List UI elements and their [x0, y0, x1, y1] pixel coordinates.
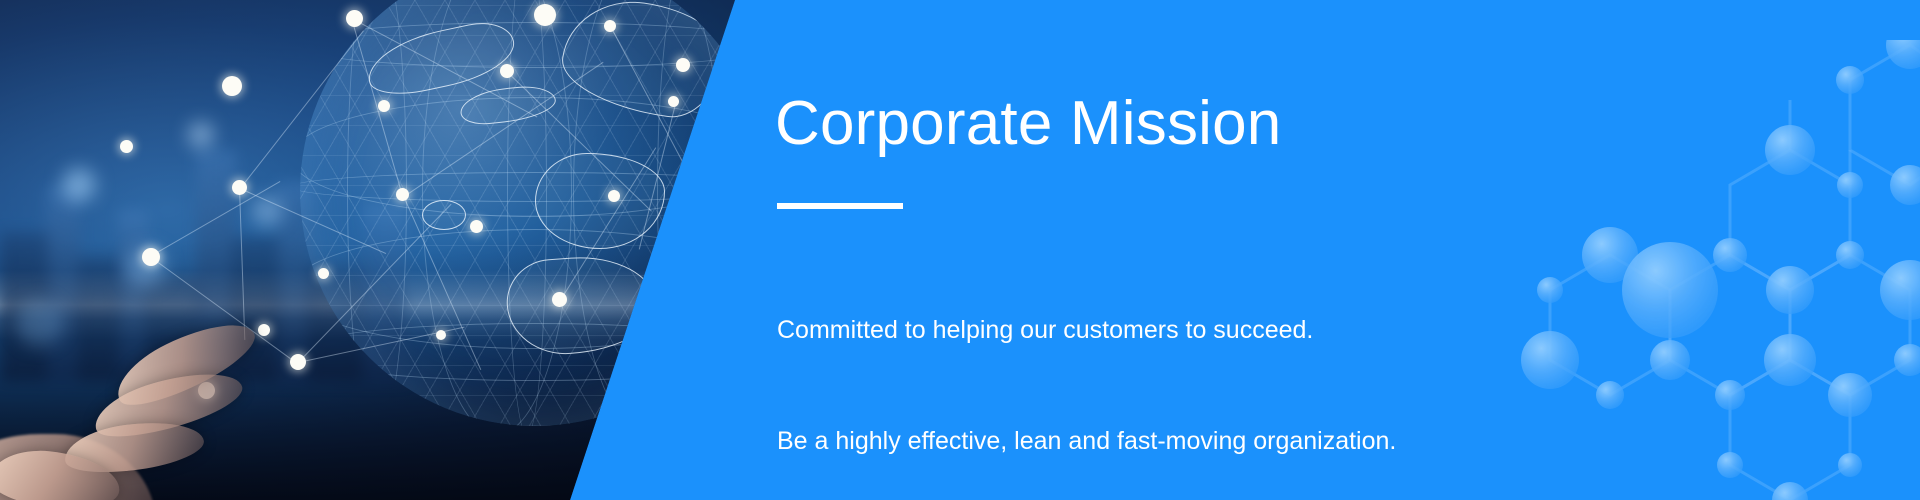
banner-content: Corporate Mission Committed to helping o…	[775, 92, 1775, 500]
network-node	[222, 76, 242, 96]
network-node	[318, 268, 329, 279]
hand	[0, 324, 290, 500]
network-node	[346, 10, 363, 27]
photo-background	[0, 0, 760, 500]
page-title: Corporate Mission	[775, 92, 1775, 155]
network-node	[676, 58, 690, 72]
network-node	[668, 96, 679, 107]
network-node	[552, 292, 567, 307]
corporate-mission-banner: Corporate Mission Committed to helping o…	[0, 0, 1920, 500]
network-node	[378, 100, 390, 112]
network-node	[290, 354, 306, 370]
network-node	[120, 140, 133, 153]
network-node	[232, 180, 247, 195]
banner-photo	[0, 0, 760, 500]
network-node	[142, 248, 160, 266]
mission-line-1: Committed to helping our customers to su…	[777, 312, 1775, 349]
mission-line-2: Be a highly effective, lean and fast-mov…	[777, 423, 1775, 460]
network-node	[604, 20, 616, 32]
network-node	[608, 190, 620, 202]
network-node	[436, 330, 446, 340]
title-underline-rule	[777, 203, 903, 209]
network-node	[396, 188, 409, 201]
network-node	[500, 64, 514, 78]
network-node	[534, 4, 556, 26]
network-node	[470, 220, 483, 233]
mission-statement: Committed to helping our customers to su…	[777, 238, 1775, 500]
